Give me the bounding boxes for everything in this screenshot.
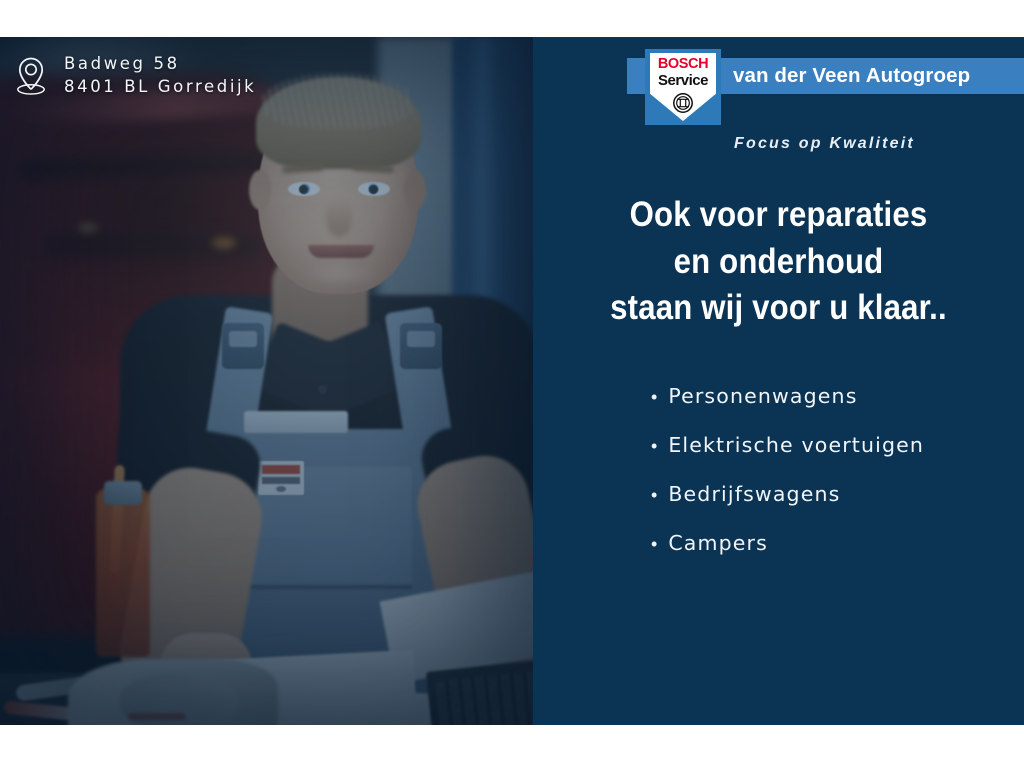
service-label: Personenwagens [668, 385, 857, 408]
workshop-photo: Badweg 58 8401 BL Gorredijk [0, 37, 533, 725]
address-lines: Badweg 58 8401 BL Gorredijk [64, 55, 256, 97]
bullet-icon: • [651, 388, 657, 406]
headline-line-2: en onderhoud [560, 239, 997, 286]
address-street: Badweg 58 [64, 55, 256, 73]
list-item: • Personenwagens [651, 385, 1024, 408]
list-item: • Elektrische voertuigen [651, 434, 1024, 457]
services-list: • Personenwagens • Elektrische voertuige… [651, 385, 1024, 581]
company-tagline: Focus op Kwaliteit [734, 135, 915, 153]
address-city: 8401 BL Gorredijk [64, 78, 256, 96]
service-label: Campers [668, 532, 768, 555]
advertisement-banner: Badweg 58 8401 BL Gorredijk van der Veen… [0, 0, 1024, 768]
service-label: Elektrische voertuigen [668, 434, 924, 457]
bosch-armature-symbol [672, 92, 694, 114]
headline-line-1: Ook voor reparaties [560, 192, 997, 239]
photo-vignette [0, 37, 533, 725]
logo-service-text: Service [650, 73, 716, 88]
page-title: Ook voor reparaties en onderhoud staan w… [560, 192, 997, 332]
list-item: • Bedrijfswagens [651, 483, 1024, 506]
service-label: Bedrijfswagens [668, 483, 840, 506]
bullet-icon: • [651, 535, 657, 553]
logo-bosch-text: BOSCH [650, 57, 716, 72]
bullet-icon: • [651, 437, 657, 455]
content-band: Badweg 58 8401 BL Gorredijk van der Veen… [0, 37, 1024, 725]
company-name: van der Veen Autogroep [733, 59, 1024, 93]
headline-line-3: staan wij voor u klaar.. [560, 285, 997, 332]
bosch-service-logo[interactable]: BOSCH Service [645, 49, 721, 125]
address-overlay: Badweg 58 8401 BL Gorredijk [14, 55, 256, 97]
map-pin-icon [14, 56, 48, 96]
bullet-icon: • [651, 486, 657, 504]
info-panel: van der Veen Autogroep BOSCH Service Foc… [533, 37, 1024, 725]
list-item: • Campers [651, 532, 1024, 555]
